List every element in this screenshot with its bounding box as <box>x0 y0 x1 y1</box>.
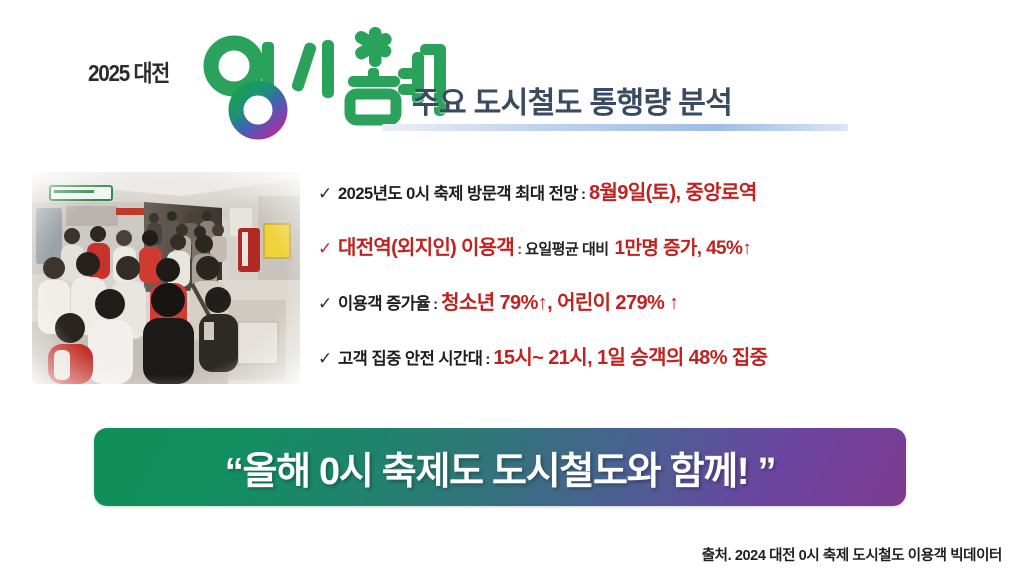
bullet-label: 2025년도 0시 축제 방문객 최대 전망 <box>338 180 578 204</box>
bullet-item-1: ✓ 2025년도 0시 축제 방문객 최대 전망 : 8월9일(토), 중앙로역 <box>318 176 1008 205</box>
check-icon: ✓ <box>318 185 338 202</box>
bullet-value: 1만명 증가, 45%↑ <box>609 233 752 260</box>
bullet-label: 이용객 증가율 <box>338 290 430 314</box>
title-area: 주요 도시철도 통행량 분석 <box>412 78 882 122</box>
bullet-separator: : <box>430 296 441 313</box>
logo-year-city: 2025 대전 <box>88 54 169 88</box>
bullet-value: 8월9일(토), 중앙로역 <box>589 176 757 205</box>
slide-header: 2025 대전 <box>0 0 1024 150</box>
title-underline-bar <box>382 124 848 131</box>
slogan-banner: “올해 0시 축제도 도시철도와 함께! ” <box>94 428 906 506</box>
check-icon: ✓ <box>318 295 338 312</box>
bullet-value: 청소년 79%↑, 어린이 279% ↑ <box>441 286 678 315</box>
source-note: 출처. 2024 대전 0시 축제 도시철도 이용객 빅데이터 <box>702 544 1002 565</box>
bullet-list: ✓ 2025년도 0시 축제 방문객 최대 전망 : 8월9일(토), 중앙로역… <box>318 176 1008 370</box>
bullet-label: 대전역(외지인) 이용객 <box>338 231 514 260</box>
bullet-label: 고객 집중 안전 시간대 <box>338 345 482 369</box>
bullet-separator: : <box>482 351 493 368</box>
bullet-item-4: ✓ 고객 집중 안전 시간대 : 15시~ 21시, 1일 승객의 48% 집중 <box>318 341 1008 370</box>
slide-root: 2025 대전 <box>0 0 1024 576</box>
bullet-sub-label: 요일평균 대비 <box>525 238 608 259</box>
slogan-text: “올해 0시 축제도 도시철도와 함께! ” <box>225 440 775 495</box>
bullet-separator: : <box>578 186 589 203</box>
bullet-value: 15시~ 21시, 1일 승객의 48% 집중 <box>493 341 767 370</box>
check-icon: ✓ <box>318 240 338 257</box>
bullet-separator: : <box>514 241 525 258</box>
subway-crowd-photo <box>32 172 300 384</box>
check-icon: ✓ <box>318 350 338 367</box>
bullet-item-2: ✓ 대전역(외지인) 이용객 : 요일평균 대비 1만명 증가, 45%↑ <box>318 231 1008 260</box>
page-title: 주요 도시철도 통행량 분석 <box>412 78 882 122</box>
bullet-item-3: ✓ 이용객 증가율 : 청소년 79%↑, 어린이 279% ↑ <box>318 286 1008 315</box>
